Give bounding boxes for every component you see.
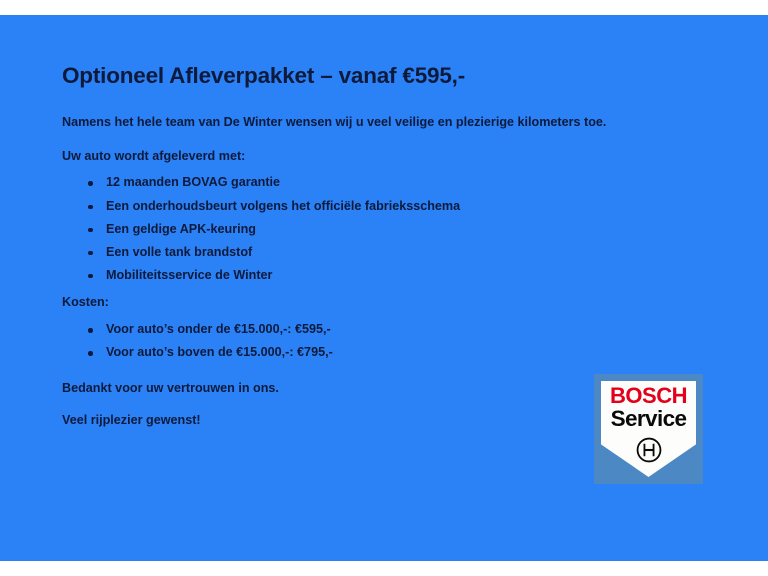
- costs-heading: Kosten:: [62, 295, 692, 311]
- delivery-heading: Uw auto wordt afgeleverd met:: [62, 149, 692, 165]
- intro-paragraph: Namens het hele team van De Winter wense…: [62, 115, 692, 131]
- list-item: Een geldige APK-keuring: [84, 223, 692, 236]
- bosch-service-logo: BOSCH Service: [594, 374, 703, 484]
- list-item: Mobiliteitsservice de Winter: [84, 269, 692, 282]
- list-item: 12 maanden BOVAG garantie: [84, 176, 692, 189]
- bosch-armature-icon: [636, 437, 662, 463]
- slide-canvas: Optioneel Afleverpakket – vanaf €595,- N…: [0, 0, 768, 576]
- list-item: Een onderhoudsbeurt volgens het officiël…: [84, 200, 692, 213]
- list-item: Voor auto’s boven de €15.000,-: €795,-: [84, 346, 692, 359]
- bosch-wordmark: BOSCH: [594, 385, 703, 407]
- page-title: Optioneel Afleverpakket – vanaf €595,-: [62, 62, 692, 89]
- costs-list: Voor auto’s onder de €15.000,-: €595,- V…: [62, 323, 692, 359]
- delivery-list: 12 maanden BOVAG garantie Een onderhouds…: [62, 176, 692, 281]
- service-wordmark: Service: [594, 408, 703, 431]
- list-item: Een volle tank brandstof: [84, 246, 692, 259]
- list-item: Voor auto’s onder de €15.000,-: €595,-: [84, 323, 692, 336]
